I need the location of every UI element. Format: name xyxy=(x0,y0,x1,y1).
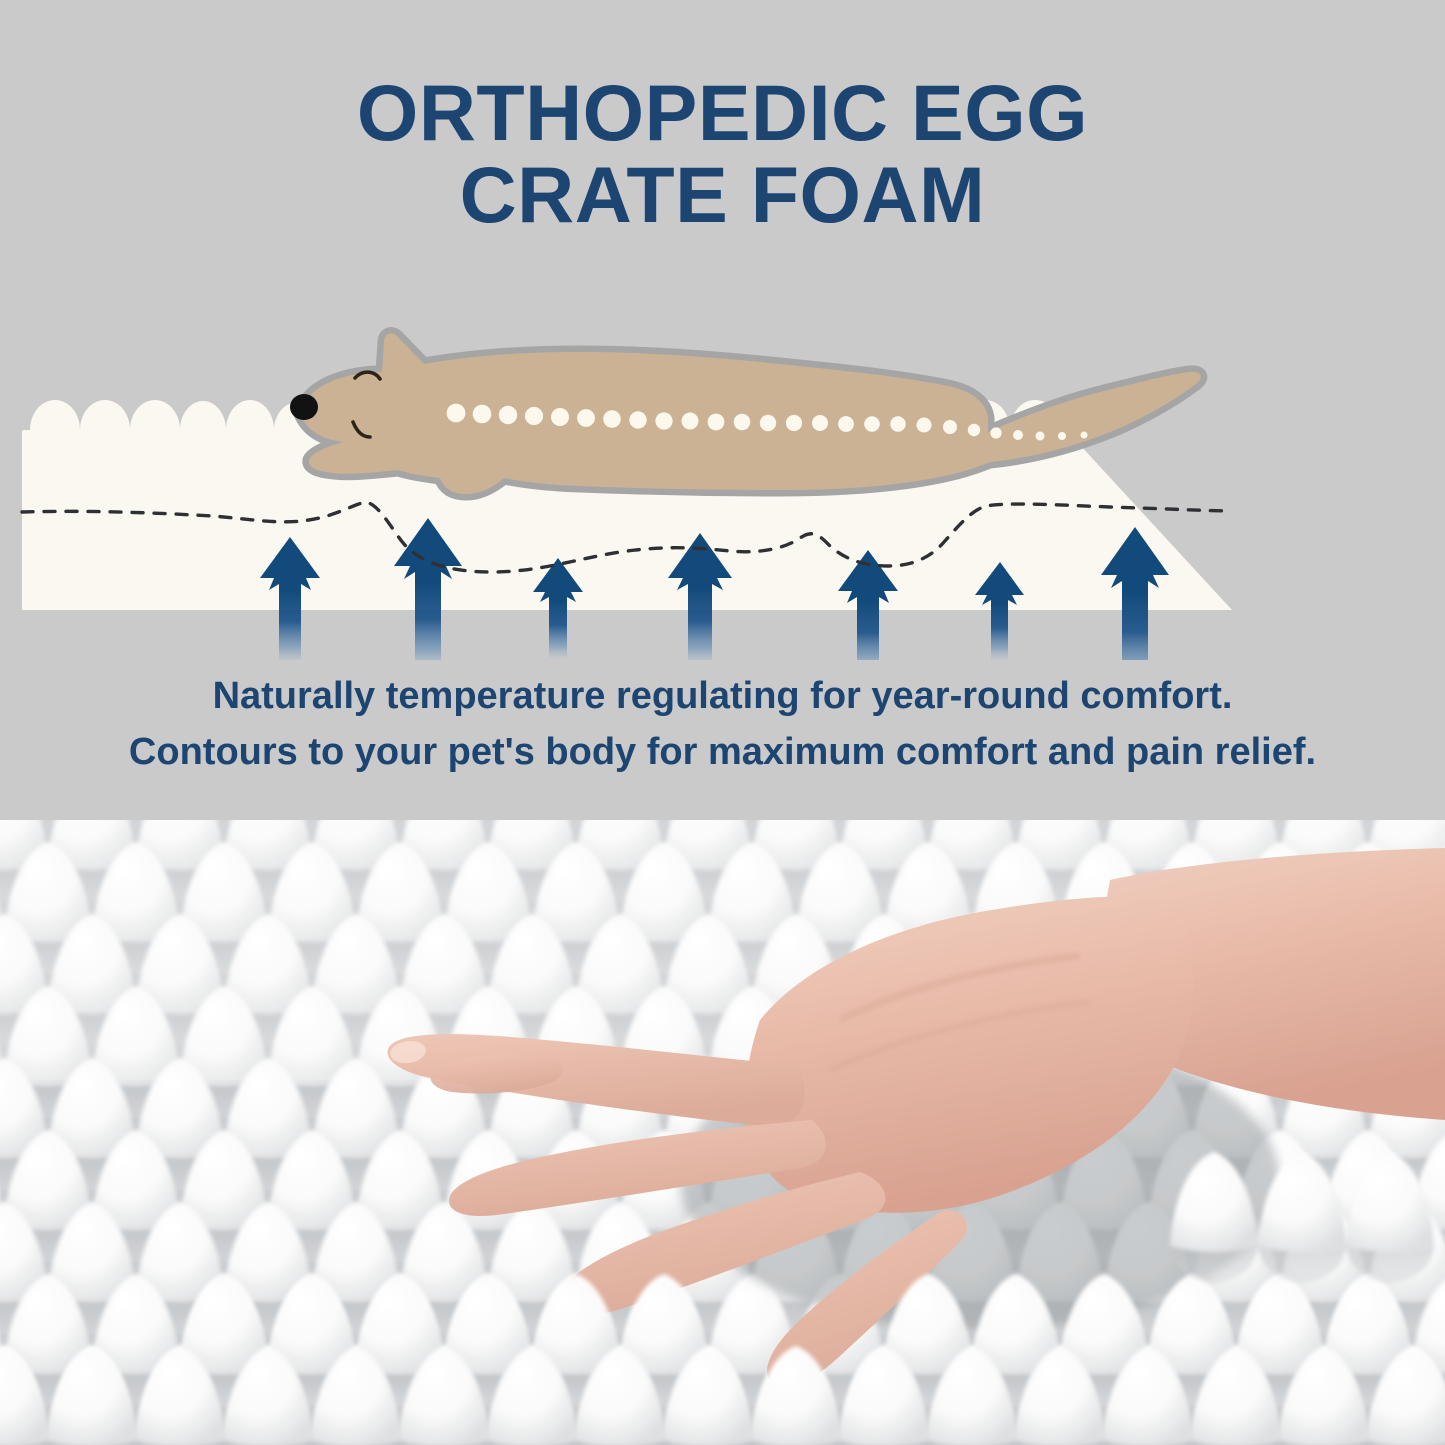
page-title: ORTHOPEDIC EGG CRATE FOAM xyxy=(0,72,1445,236)
product-feature-image: ORTHOPEDIC EGG CRATE FOAM xyxy=(0,0,1445,1445)
foam-photo xyxy=(0,820,1445,1445)
dog-nose xyxy=(290,394,318,420)
caption-line-1: Naturally temperature regulating for yea… xyxy=(0,668,1445,724)
caption-block: Naturally temperature regulating for yea… xyxy=(0,668,1445,780)
foam-support-diagram xyxy=(0,290,1445,660)
caption-line-2: Contours to your pet's body for maximum … xyxy=(0,724,1445,780)
infographic-panel: ORTHOPEDIC EGG CRATE FOAM xyxy=(0,0,1445,820)
foam-photo-graphic xyxy=(0,820,1445,1445)
